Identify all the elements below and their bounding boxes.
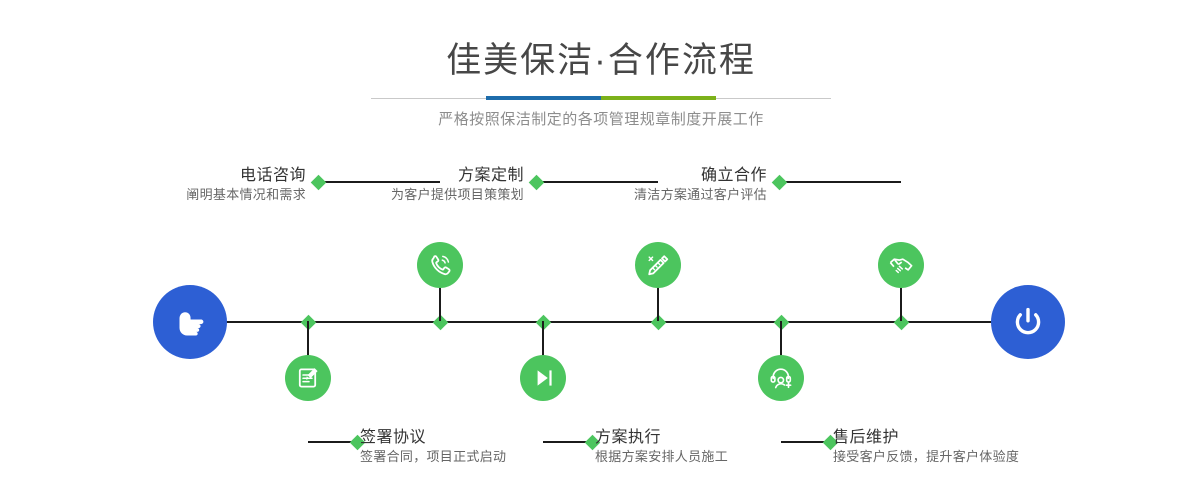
customer-service-icon [767,364,795,392]
page-subtitle: 严格按照保洁制定的各项管理规章制度开展工作 [0,110,1202,130]
step-label-5: 确立合作 清洁方案通过客户评估 [565,166,767,204]
step-label-2: 签署协议 签署合同，项目正式启动 [360,428,506,466]
step-title-1: 电话咨询 [120,166,306,186]
step-desc-5: 清洁方案通过客户评估 [565,186,767,204]
step-icon-circle-1[interactable] [417,242,463,288]
header: 佳美保洁·合作流程 严格按照保洁制定的各项管理规章制度开展工作 [0,0,1202,130]
title-divider [371,96,831,100]
step-icon-circle-5[interactable] [878,242,924,288]
step-icon-circle-6[interactable] [758,355,804,401]
pencil-ruler-icon [644,251,672,279]
step-desc-6: 接受客户反馈，提升客户体验度 [833,448,1019,466]
step-title-6: 售后维护 [833,428,1019,448]
step-label-3: 方案定制 为客户提供项目策策划 [322,166,524,204]
divider-segment-green [601,96,716,100]
step-desc-1: 阐明基本情况和需求 [120,186,306,204]
page-title: 佳美保洁·合作流程 [0,40,1202,82]
step-label-1: 电话咨询 阐明基本情况和需求 [120,166,306,204]
document-edit-icon [294,364,322,392]
label-marker-5 [772,174,788,190]
step-title-4: 方案执行 [595,428,728,448]
divider-segment-blue [486,96,601,100]
label-marker-3 [529,174,545,190]
step-title-5: 确立合作 [565,166,767,186]
handshake-icon [887,251,915,279]
connector-horizontal-5 [780,181,901,183]
timeline-end-endpoint [991,285,1065,359]
step-desc-3: 为客户提供项目策策划 [322,186,524,204]
step-icon-circle-3[interactable] [635,242,681,288]
step-label-4: 方案执行 根据方案安排人员施工 [595,428,728,466]
process-flow-infographic: 佳美保洁·合作流程 严格按照保洁制定的各项管理规章制度开展工作 [0,0,1202,502]
step-title-2: 签署协议 [360,428,506,448]
pointing-hand-icon [169,301,211,343]
step-desc-4: 根据方案安排人员施工 [595,448,728,466]
power-icon [1007,301,1049,343]
phone-call-icon [426,251,454,279]
step-desc-2: 签署合同，项目正式启动 [360,448,506,466]
step-label-6: 售后维护 接受客户反馈，提升客户体验度 [833,428,1019,466]
step-title-3: 方案定制 [322,166,524,186]
step-icon-circle-4[interactable] [520,355,566,401]
step-icon-circle-2[interactable] [285,355,331,401]
play-skip-icon [529,364,557,392]
timeline-start-endpoint [153,285,227,359]
